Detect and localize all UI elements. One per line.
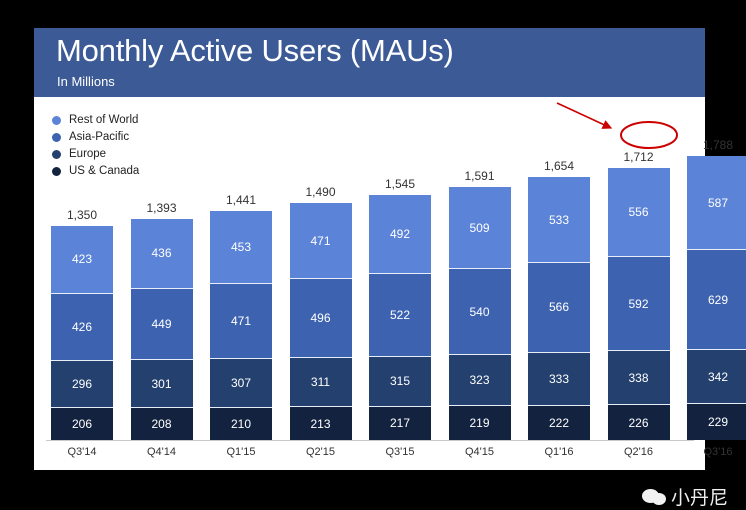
stacked-bar-chart: 4234262962061,350Q3'144364493012081,393Q… — [34, 28, 705, 470]
x-axis-tick-label: Q3'14 — [45, 446, 119, 458]
bar-segment-value: 423 — [51, 252, 113, 266]
bar-segment[interactable]: 453 — [210, 211, 272, 283]
bar-segment[interactable]: 311 — [290, 357, 352, 406]
bar-segment[interactable]: 307 — [210, 358, 272, 407]
watermark-label: 小丹尼 — [671, 483, 728, 510]
bar-segment-value: 307 — [210, 376, 272, 390]
bar-segment[interactable]: 208 — [131, 407, 193, 440]
bar-segment-value: 315 — [369, 374, 431, 388]
bar-segment-value: 219 — [449, 416, 511, 430]
bar-segment-value: 206 — [51, 417, 113, 431]
watermark: 小丹尼 — [642, 483, 728, 510]
bar-segment-value: 592 — [608, 297, 670, 311]
bar-segment-value: 522 — [369, 308, 431, 322]
bar-segment[interactable]: 426 — [51, 293, 113, 361]
bar-total-label: 1,591 — [443, 169, 517, 183]
bar-total-label: 1,490 — [284, 185, 358, 199]
x-axis-line — [46, 440, 694, 441]
bar-segment-value: 229 — [687, 415, 746, 429]
bar-segment[interactable]: 566 — [528, 262, 590, 352]
bar-segment-value: 492 — [369, 227, 431, 241]
bar-segment-value: 338 — [608, 371, 670, 385]
bar-segment-value: 449 — [131, 317, 193, 331]
bar-segment-value: 217 — [369, 416, 431, 430]
bar-segment-value: 509 — [449, 221, 511, 235]
bar-segment[interactable]: 315 — [369, 356, 431, 406]
bar-segment-value: 311 — [290, 375, 352, 389]
x-axis-tick-label: Q4'15 — [443, 446, 517, 458]
bar-segment[interactable]: 296 — [51, 360, 113, 407]
bar-column[interactable]: 453471307210 — [210, 211, 272, 440]
x-axis-tick-label: Q2'16 — [602, 446, 676, 458]
bar-segment[interactable]: 219 — [449, 405, 511, 440]
bar-segment-value: 301 — [131, 377, 193, 391]
presentation-slide: Monthly Active Users (MAUs) In Millions … — [34, 28, 705, 470]
bar-total-label: 1,654 — [522, 159, 596, 173]
bar-segment-value: 210 — [210, 417, 272, 431]
bar-segment[interactable]: 592 — [608, 256, 670, 350]
bar-segment[interactable]: 522 — [369, 273, 431, 356]
bar-segment[interactable]: 471 — [210, 283, 272, 358]
bar-segment[interactable]: 323 — [449, 354, 511, 405]
bar-segment[interactable]: 423 — [51, 226, 113, 293]
x-axis-tick-label: Q4'14 — [125, 446, 199, 458]
bar-segment-value: 323 — [449, 373, 511, 387]
bar-segment[interactable]: 206 — [51, 407, 113, 440]
bar-segment[interactable]: 540 — [449, 268, 511, 354]
bar-column[interactable]: 587629342229 — [687, 156, 746, 440]
bar-segment[interactable]: 449 — [131, 288, 193, 359]
bar-segment[interactable]: 222 — [528, 405, 590, 440]
bar-segment-value: 587 — [687, 196, 746, 210]
bar-segment[interactable]: 496 — [290, 278, 352, 357]
bar-segment-value: 629 — [687, 293, 746, 307]
bar-total-label: 1,712 — [602, 150, 676, 164]
bar-segment[interactable]: 629 — [687, 249, 746, 349]
bar-total-label: 1,441 — [204, 193, 278, 207]
bar-segment[interactable]: 226 — [608, 404, 670, 440]
bar-column[interactable]: 423426296206 — [51, 226, 113, 440]
bar-segment-value: 333 — [528, 372, 590, 386]
bar-total-label: 1,350 — [45, 208, 119, 222]
wechat-icon — [642, 487, 668, 507]
bar-segment-value: 540 — [449, 305, 511, 319]
bar-segment-value: 226 — [608, 416, 670, 430]
x-axis-tick-label: Q3'16 — [681, 446, 746, 458]
x-axis-tick-label: Q1'15 — [204, 446, 278, 458]
bar-column[interactable]: 471496311213 — [290, 203, 352, 440]
bar-column[interactable]: 509540323219 — [449, 187, 511, 440]
bar-column[interactable]: 556592338226 — [608, 168, 670, 440]
bar-segment[interactable]: 301 — [131, 359, 193, 407]
bar-total-label: 1,788 — [681, 138, 746, 152]
bar-column[interactable]: 533566333222 — [528, 177, 590, 440]
bar-segment-value: 471 — [290, 234, 352, 248]
bar-segment-value: 213 — [290, 417, 352, 431]
bar-segment-value: 471 — [210, 314, 272, 328]
bar-segment-value: 426 — [51, 320, 113, 334]
bar-segment[interactable]: 587 — [687, 156, 746, 249]
bar-segment[interactable]: 217 — [369, 406, 431, 440]
bar-segment[interactable]: 333 — [528, 352, 590, 405]
x-axis-tick-label: Q2'15 — [284, 446, 358, 458]
bar-segment[interactable]: 342 — [687, 349, 746, 403]
bar-segment[interactable]: 210 — [210, 407, 272, 440]
bar-segment-value: 556 — [608, 205, 670, 219]
bar-segment[interactable]: 492 — [369, 195, 431, 273]
x-axis-tick-label: Q1'16 — [522, 446, 596, 458]
bar-segment[interactable]: 338 — [608, 350, 670, 404]
bar-column[interactable]: 436449301208 — [131, 219, 193, 440]
bar-column[interactable]: 492522315217 — [369, 195, 431, 440]
bar-segment-value: 208 — [131, 417, 193, 431]
bar-segment-value: 566 — [528, 300, 590, 314]
bar-segment[interactable]: 556 — [608, 168, 670, 256]
bar-segment[interactable]: 213 — [290, 406, 352, 440]
bar-segment[interactable]: 533 — [528, 177, 590, 262]
bar-segment-value: 533 — [528, 213, 590, 227]
x-axis-tick-label: Q3'15 — [363, 446, 437, 458]
bar-segment[interactable]: 436 — [131, 219, 193, 288]
bar-total-label: 1,393 — [125, 201, 199, 215]
bar-segment-value: 453 — [210, 240, 272, 254]
screenshot-stage: Monthly Active Users (MAUs) In Millions … — [0, 0, 746, 501]
bar-segment[interactable]: 471 — [290, 203, 352, 278]
bar-segment-value: 496 — [290, 311, 352, 325]
bar-segment[interactable]: 229 — [687, 403, 746, 439]
bar-total-label: 1,545 — [363, 177, 437, 191]
bar-segment-value: 296 — [51, 377, 113, 391]
bar-segment-value: 342 — [687, 370, 746, 384]
bar-segment-value: 222 — [528, 416, 590, 430]
bar-segment-value: 436 — [131, 246, 193, 260]
bar-segment[interactable]: 509 — [449, 187, 511, 268]
